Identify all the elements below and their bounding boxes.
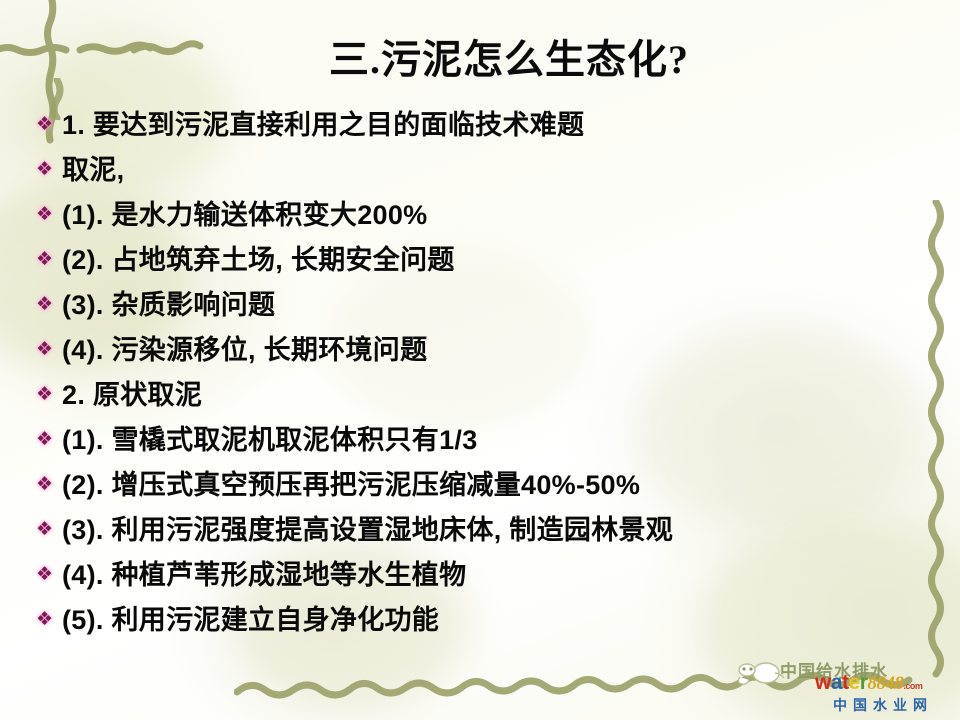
logo-letter-e: e (849, 671, 860, 694)
watermark-site-name: 中国水业网 (833, 695, 933, 715)
list-item[interactable]: ❖ (1). 雪橇式取泥机取泥体积只有1/3 (36, 418, 936, 463)
list-item-text: 2. 原状取泥 (62, 373, 936, 417)
list-item-text: (2). 增压式真空预压再把污泥压缩减量40%-50% (62, 463, 936, 507)
diamond-bullet-icon: ❖ (36, 508, 62, 552)
watermark: 中国给水排水 water8848.com 中国水业网 (735, 655, 960, 717)
list-item[interactable]: ❖ 取泥, (36, 148, 936, 193)
diamond-bullet-icon: ❖ (36, 418, 62, 462)
list-item[interactable]: ❖ (3). 杂质影响问题 (36, 283, 936, 328)
slide-title: 三.污泥怎么生态化? (0, 34, 960, 86)
list-item[interactable]: ❖ (3). 利用污泥强度提高设置湿地床体, 制造园林景观 (36, 508, 936, 553)
presentation-slide: 三.污泥怎么生态化? ❖ 1. 要达到污泥直接利用之目的面临技术难题 ❖ 取泥,… (0, 0, 960, 720)
diamond-bullet-icon: ❖ (36, 283, 62, 327)
list-item-text: (5). 利用污泥建立自身净化功能 (62, 598, 936, 642)
list-item-text: (3). 利用污泥强度提高设置湿地床体, 制造园林景观 (62, 508, 936, 552)
list-item-text: (4). 种植芦苇形成湿地等水生植物 (62, 553, 936, 597)
diamond-bullet-icon: ❖ (36, 373, 62, 417)
list-item-text: 1. 要达到污泥直接利用之目的面临技术难题 (62, 103, 936, 147)
list-item[interactable]: ❖ (2). 增压式真空预压再把污泥压缩减量40%-50% (36, 463, 936, 508)
watermark-logo: water8848.com (815, 672, 922, 697)
list-item[interactable]: ❖ (5). 利用污泥建立自身净化功能 (36, 598, 936, 643)
list-item-text: (1). 雪橇式取泥机取泥体积只有1/3 (62, 418, 936, 462)
list-item[interactable]: ❖ (1). 是水力输送体积变大200% (36, 193, 936, 238)
diamond-bullet-icon: ❖ (36, 103, 62, 147)
list-item[interactable]: ❖ (4). 种植芦苇形成湿地等水生植物 (36, 553, 936, 598)
diamond-bullet-icon: ❖ (36, 463, 62, 507)
diamond-bullet-icon: ❖ (36, 148, 62, 192)
logo-tld: .com (903, 681, 922, 691)
diamond-bullet-icon: ❖ (36, 598, 62, 642)
list-item[interactable]: ❖ (2). 占地筑弃土场, 长期安全问题 (36, 238, 936, 283)
list-item-text: (1). 是水力输送体积变大200% (62, 193, 936, 237)
diamond-bullet-icon: ❖ (36, 193, 62, 237)
list-item-text: 取泥, (62, 148, 936, 192)
list-item-text: (4). 污染源移位, 长期环境问题 (62, 328, 936, 372)
diamond-bullet-icon: ❖ (36, 328, 62, 372)
diamond-bullet-icon: ❖ (36, 553, 62, 597)
list-item-text: (3). 杂质影响问题 (62, 283, 936, 327)
logo-letter-a: a (831, 671, 842, 694)
list-item-text: (2). 占地筑弃土场, 长期安全问题 (62, 238, 936, 282)
logo-number: 8848 (867, 673, 903, 694)
list-item[interactable]: ❖ (4). 污染源移位, 长期环境问题 (36, 328, 936, 373)
bullet-list: ❖ 1. 要达到污泥直接利用之目的面临技术难题 ❖ 取泥, ❖ (1). 是水力… (36, 103, 936, 643)
diamond-bullet-icon: ❖ (36, 238, 62, 282)
logo-letter-w: w (815, 671, 831, 694)
list-item[interactable]: ❖ 2. 原状取泥 (36, 373, 936, 418)
list-item[interactable]: ❖ 1. 要达到污泥直接利用之目的面临技术难题 (36, 103, 936, 148)
